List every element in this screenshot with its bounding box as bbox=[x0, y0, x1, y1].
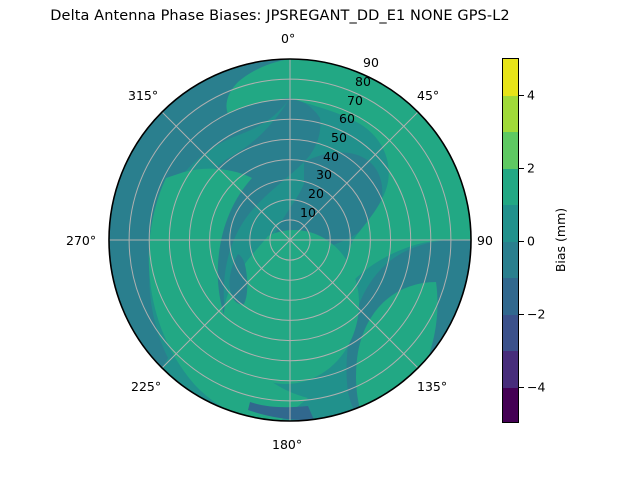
page-title: Delta Antenna Phase Biases: JPSREGANT_DD… bbox=[0, 8, 560, 24]
r-label-10: 10 bbox=[300, 205, 316, 220]
theta-label-45: 45° bbox=[417, 88, 439, 103]
polar-grid-spokes bbox=[109, 59, 471, 421]
theta-label-135: 135° bbox=[417, 379, 447, 394]
colorbar-ticklabel-4: 4 bbox=[527, 87, 535, 102]
theta-label-225: 225° bbox=[131, 379, 161, 394]
colorbar-band-1 bbox=[503, 351, 518, 388]
theta-label-270: 270° bbox=[66, 233, 96, 248]
polar-plot-svg bbox=[108, 58, 472, 422]
colorbar-ticklabel-2: 2 bbox=[527, 160, 535, 175]
colorbar-ticklabel--4: −4 bbox=[527, 379, 545, 394]
figure-canvas: Delta Antenna Phase Biases: JPSREGANT_DD… bbox=[0, 0, 640, 480]
colorbar-tick-2 bbox=[519, 168, 524, 169]
colorbar-band-5 bbox=[503, 205, 518, 242]
r-label-60: 60 bbox=[339, 111, 355, 126]
colorbar-band-8 bbox=[503, 96, 518, 133]
r-label-20: 20 bbox=[308, 186, 324, 201]
colorbar-band-9 bbox=[503, 59, 518, 96]
colorbar-tick-0 bbox=[519, 241, 524, 242]
r-label-40: 40 bbox=[323, 149, 339, 164]
colorbar-ticklabel--2: −2 bbox=[527, 306, 545, 321]
colorbar-ticklabel-0: 0 bbox=[527, 233, 535, 248]
polar-axes[interactable] bbox=[108, 58, 472, 422]
colorbar-axis-label: Bias (mm) bbox=[553, 208, 568, 272]
theta-label-180: 180° bbox=[272, 437, 302, 452]
colorbar-band-3 bbox=[503, 278, 518, 315]
colorbar-band-0 bbox=[503, 388, 518, 424]
r-label-30: 30 bbox=[316, 167, 332, 182]
r-label-80: 80 bbox=[355, 74, 371, 89]
colorbar-tick--4 bbox=[519, 387, 524, 388]
colorbar-band-6 bbox=[503, 169, 518, 206]
theta-label-315: 315° bbox=[128, 88, 158, 103]
colorbar-tick-4 bbox=[519, 95, 524, 96]
colorbar-band-4 bbox=[503, 242, 518, 279]
theta-label-0: 0° bbox=[281, 31, 295, 46]
r-label-50: 50 bbox=[331, 130, 347, 145]
colorbar-band-7 bbox=[503, 132, 518, 169]
colorbar-gradient bbox=[502, 58, 519, 423]
r-label-90: 90 bbox=[363, 55, 379, 70]
colorbar[interactable]: 420−2−4 bbox=[502, 58, 519, 423]
r-label-70: 70 bbox=[347, 93, 363, 108]
colorbar-band-2 bbox=[503, 315, 518, 352]
colorbar-tick--2 bbox=[519, 314, 524, 315]
theta-label-90: 90 bbox=[477, 233, 493, 248]
